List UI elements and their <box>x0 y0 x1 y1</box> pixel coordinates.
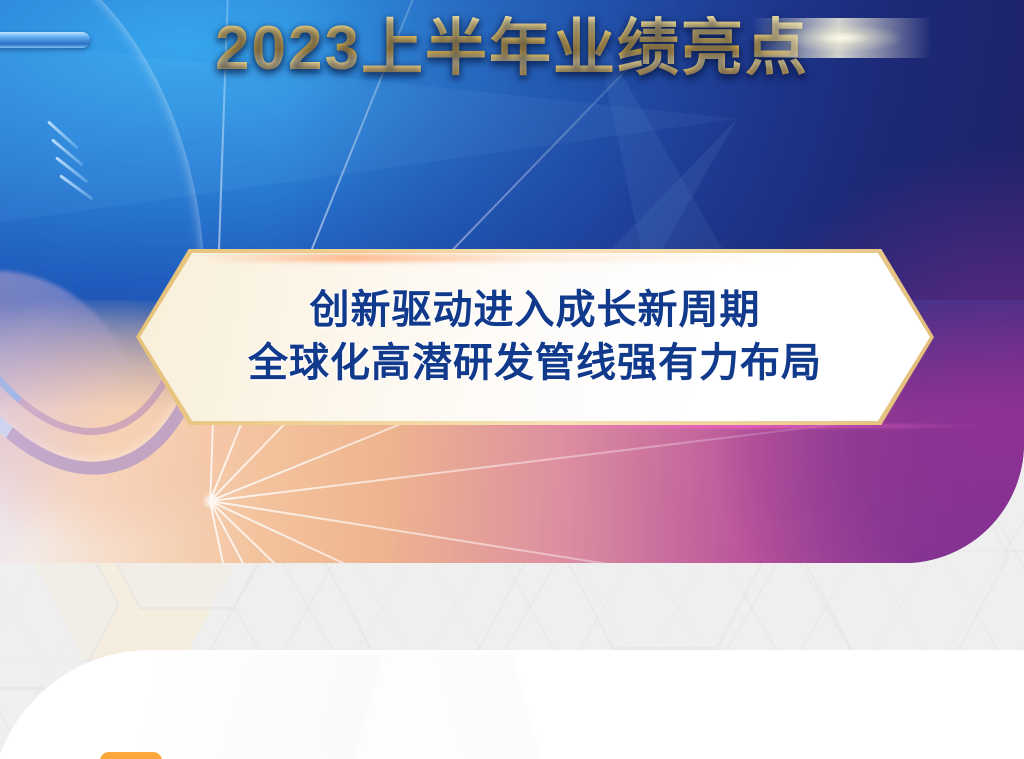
section-number-badge <box>100 752 162 759</box>
highlight-line-2: 全球化高潜研发管线强有力布局 <box>248 339 822 388</box>
page-title: 2023上半年业绩亮点 <box>215 16 809 81</box>
title-container: 2023上半年业绩亮点 <box>0 16 1024 81</box>
content-plate <box>0 650 1024 759</box>
highlight-card-text: 创新驱动进入成长新周期 全球化高潜研发管线强有力布局 <box>140 253 930 421</box>
infographic-canvas: 2023上半年业绩亮点 创新驱动进入成长新周期 全球化高潜研发管线强有力布局 <box>0 0 1024 759</box>
highlight-line-1: 创新驱动进入成长新周期 <box>310 286 761 335</box>
